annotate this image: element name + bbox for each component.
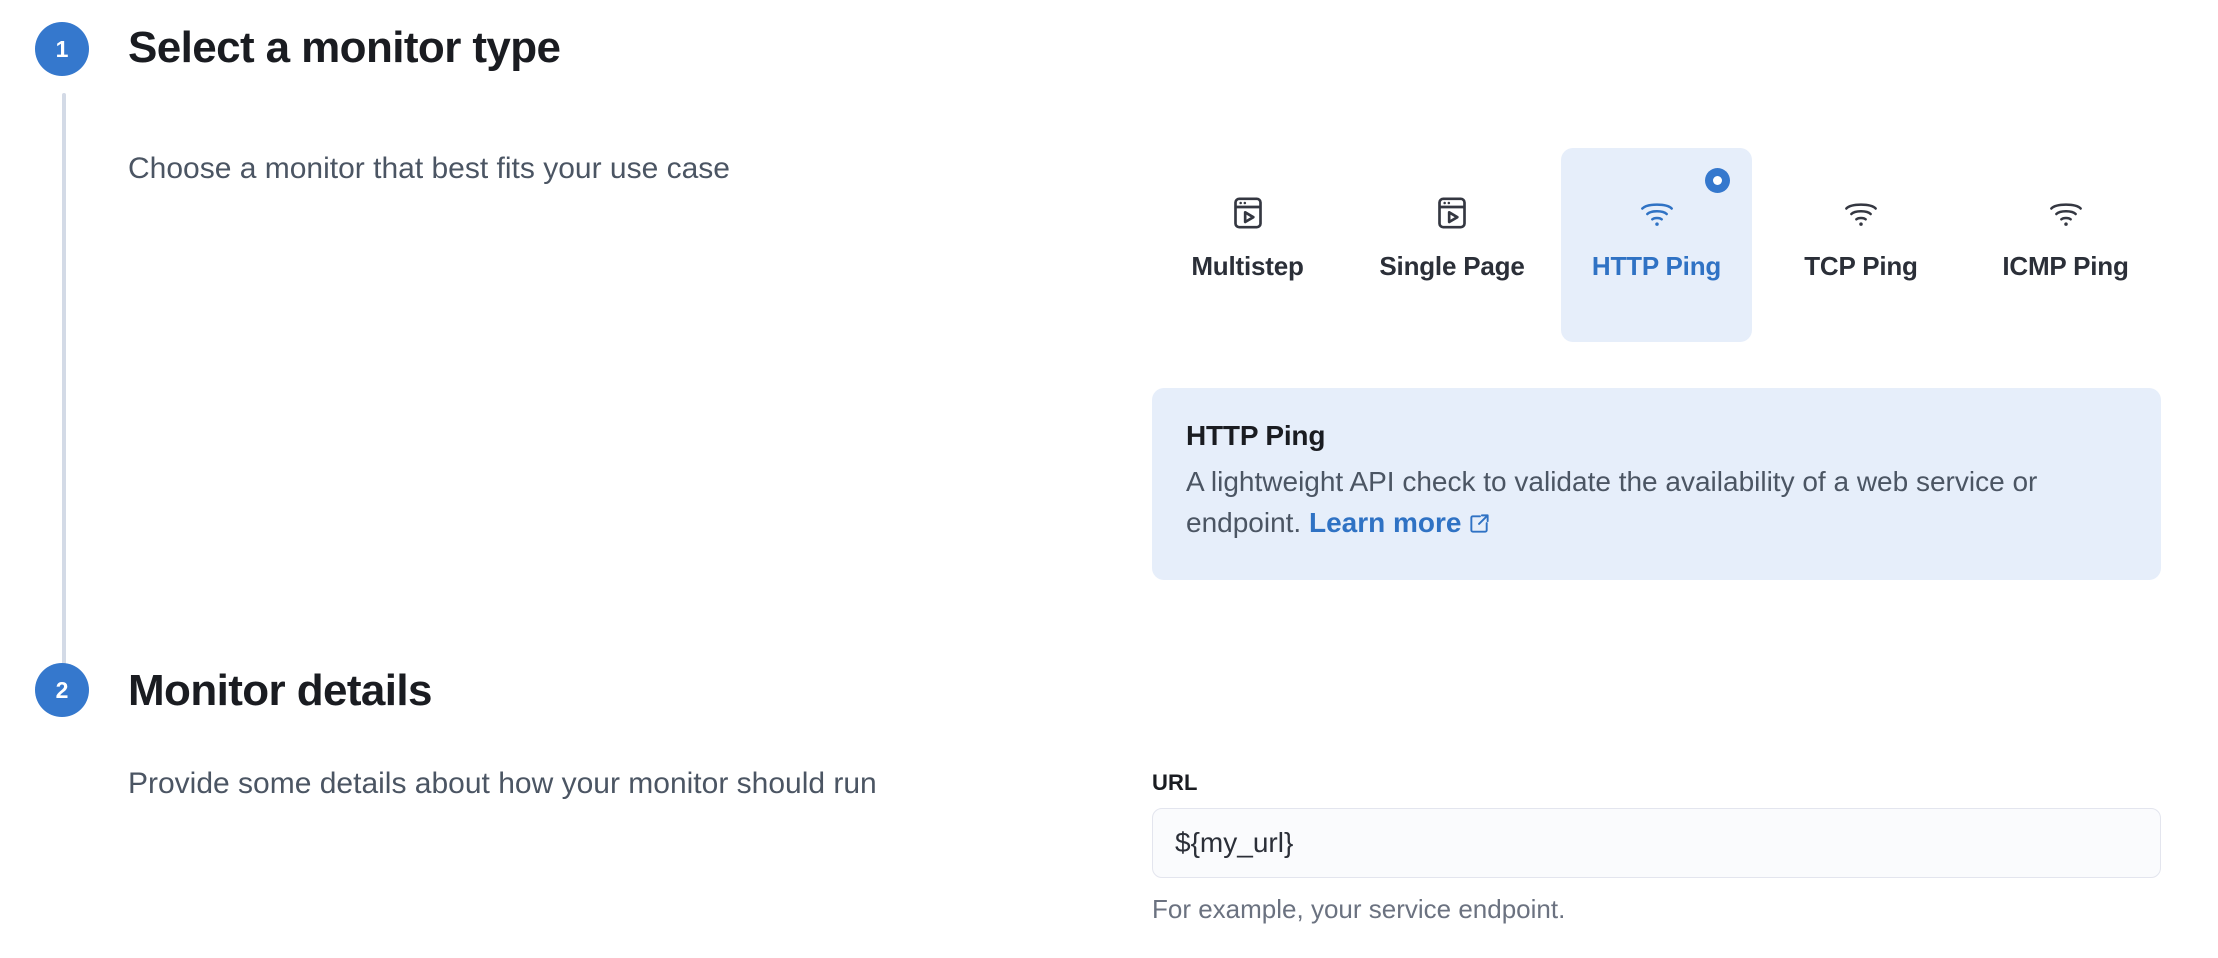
callout-title: HTTP Ping [1186, 418, 2127, 454]
monitor-type-card-tcp-ping[interactable]: TCP Ping [1766, 148, 1957, 342]
step-number-badge-1: 1 [35, 22, 89, 76]
monitor-type-card-multistep[interactable]: Multistep [1152, 148, 1343, 342]
ping-signal-icon [2046, 193, 2086, 233]
monitor-type-label: TCP Ping [1804, 251, 1917, 282]
step-title-2: Monitor details [128, 663, 432, 718]
step-description-1: Choose a monitor that best fits your use… [128, 148, 730, 190]
monitor-type-selector: Multistep Single Page [1152, 148, 2161, 342]
monitor-type-label: HTTP Ping [1592, 251, 1721, 282]
ping-signal-icon [1841, 193, 1881, 233]
monitor-setup-wizard: 1 Select a monitor type Choose a monitor… [0, 0, 2218, 958]
step-number-badge-2: 2 [35, 663, 89, 717]
monitor-type-label: Single Page [1379, 251, 1524, 282]
url-field-label: URL [1152, 770, 2161, 796]
monitor-details-form: URL For example, your service endpoint. [1152, 770, 2161, 927]
learn-more-label: Learn more [1309, 507, 1462, 538]
monitor-type-label: ICMP Ping [2002, 251, 2128, 282]
step-title-1: Select a monitor type [128, 20, 560, 75]
monitor-type-info-callout: HTTP Ping A lightweight API check to val… [1152, 388, 2161, 580]
url-field-help-text: For example, your service endpoint. [1152, 893, 2161, 927]
monitor-type-card-single-page[interactable]: Single Page [1357, 148, 1548, 342]
browser-play-icon [1228, 193, 1268, 233]
wizard-rail-connector [62, 93, 66, 693]
radio-selected-icon[interactable] [1705, 168, 1730, 193]
browser-play-icon [1432, 193, 1472, 233]
ping-signal-icon [1637, 193, 1677, 233]
callout-body: A lightweight API check to validate the … [1186, 462, 2127, 543]
url-input[interactable] [1152, 808, 2161, 878]
monitor-type-card-icmp-ping[interactable]: ICMP Ping [1970, 148, 2161, 342]
monitor-type-label: Multistep [1191, 251, 1303, 282]
external-link-icon[interactable] [1468, 506, 1491, 529]
step-description-2: Provide some details about how your moni… [128, 763, 877, 805]
monitor-type-card-http-ping[interactable]: HTTP Ping [1561, 148, 1752, 342]
learn-more-link[interactable]: Learn more [1309, 507, 1462, 538]
